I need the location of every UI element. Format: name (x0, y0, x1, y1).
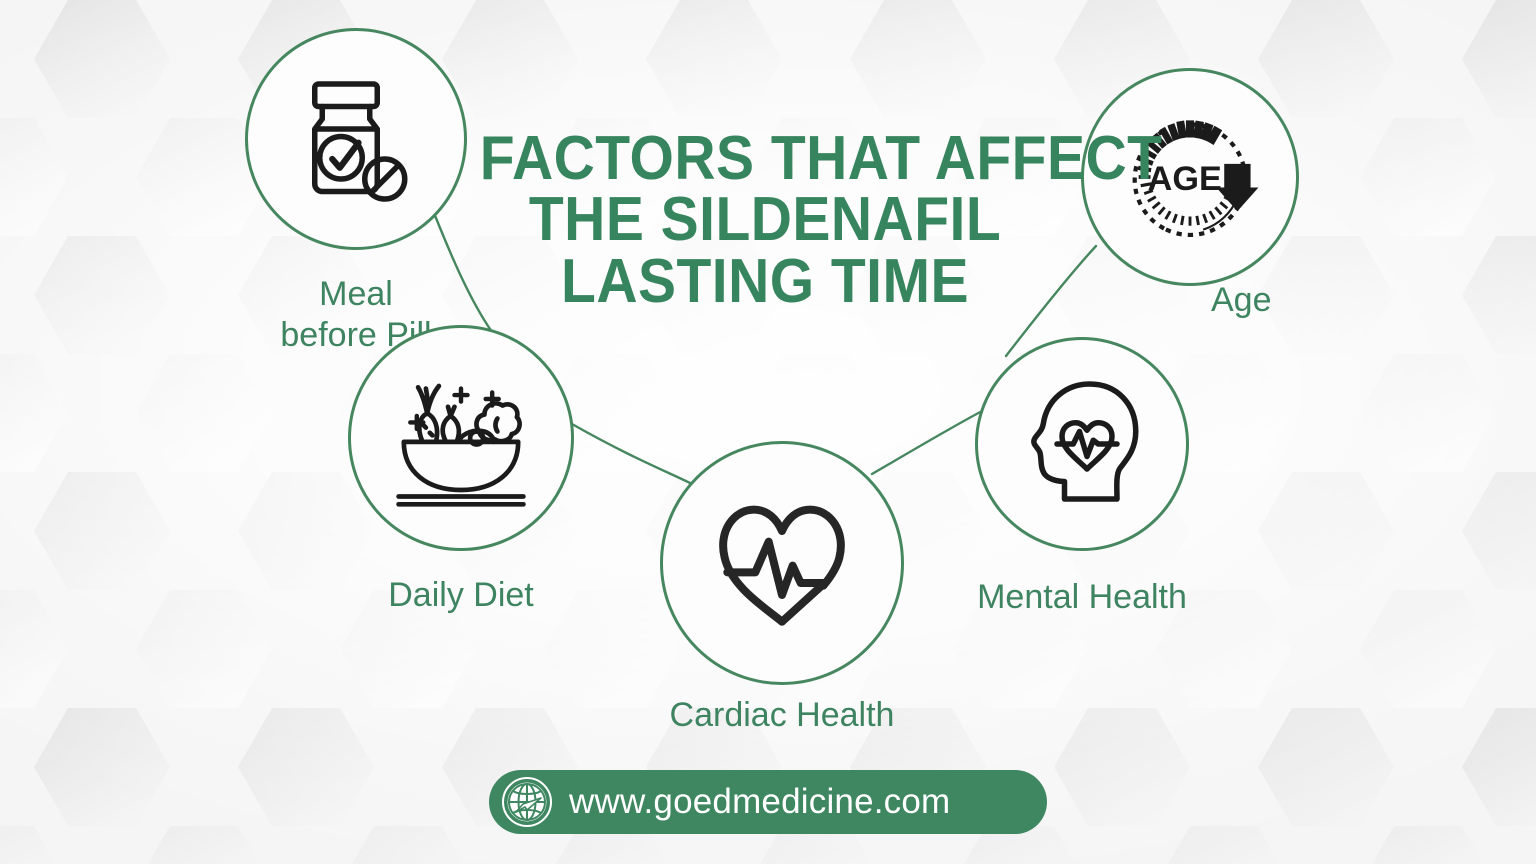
factor-bubble-mental[interactable] (975, 337, 1189, 551)
factor-label-cardiac-health: Cardiac Health (570, 695, 994, 736)
factor-bubble-diet[interactable] (348, 325, 574, 551)
factor-label-age: Age (1211, 280, 1391, 321)
factor-bubble-meal[interactable] (245, 28, 467, 250)
website-url-text: www.goedmedicine.com (569, 782, 950, 822)
factor-label-mental-health: Mental Health (875, 577, 1289, 618)
globe-icon (501, 776, 553, 828)
title-line-2: THE SILDENAFIL (480, 189, 1050, 250)
title-line-1: FACTORS THAT AFFECT (480, 128, 1050, 189)
website-url-bar[interactable]: www.goedmedicine.com (489, 770, 1047, 834)
head-heart-icon (1007, 369, 1157, 519)
factor-node-cardiac-health[interactable]: Cardiac Health (660, 441, 904, 685)
pill-bottle-icon (281, 64, 431, 214)
factor-bubble-cardiac[interactable] (660, 441, 904, 685)
heart-pulse-icon (702, 483, 862, 643)
factor-label-daily-diet: Daily Diet (258, 575, 664, 616)
factor-node-meal-before-pill[interactable]: Meal before Pill (245, 28, 467, 250)
title-line-3: LASTING TIME (480, 251, 1050, 312)
factor-node-daily-diet[interactable]: Daily Diet (348, 325, 574, 551)
factor-node-mental-health[interactable]: Mental Health (975, 337, 1189, 551)
page-title: FACTORS THAT AFFECT THE SILDENAFIL LASTI… (480, 128, 1050, 312)
salad-bowl-icon (383, 360, 539, 516)
infographic-canvas: FACTORS THAT AFFECT THE SILDENAFIL LASTI… (0, 0, 1536, 864)
